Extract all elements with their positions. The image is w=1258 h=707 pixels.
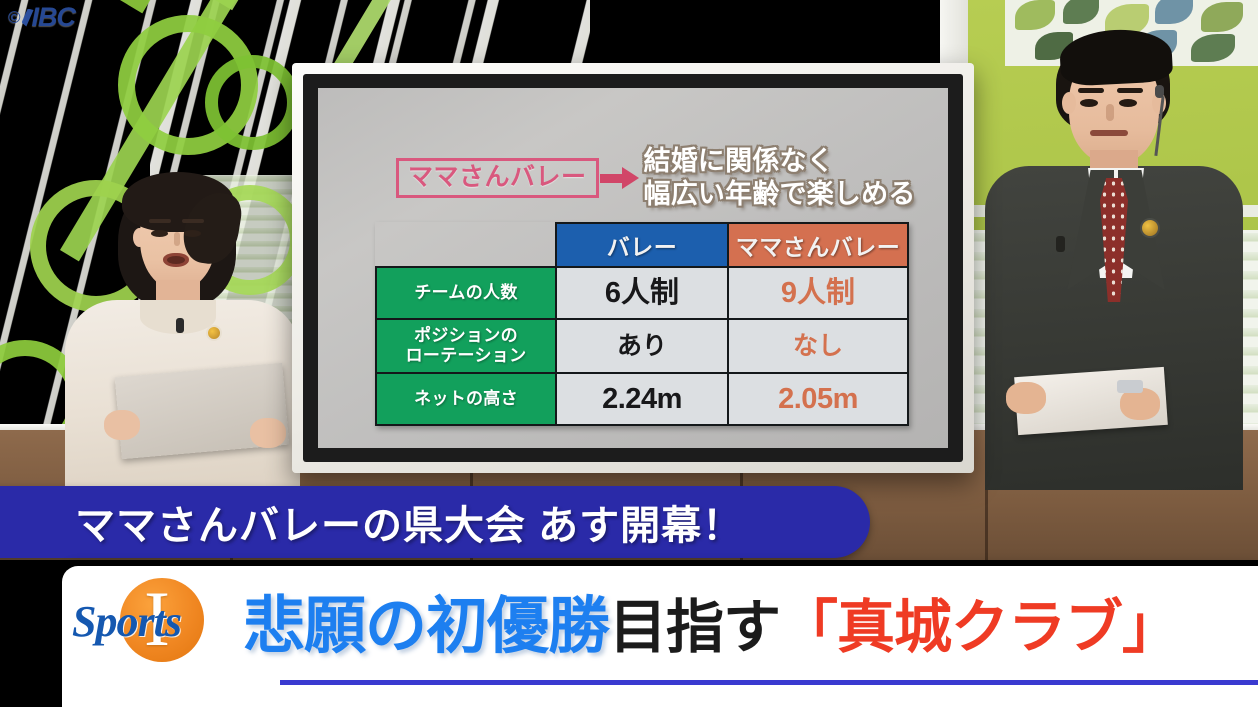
anchor-eyebrow-right [1117, 88, 1143, 93]
sports-headline-row: I Sports 悲願の初優勝 目指す 「真城クラブ」 [62, 570, 1258, 670]
headline-part-black: 目指す [609, 580, 780, 664]
anchor-lapel-pin [1140, 218, 1160, 238]
monitor-screen: ママさんバレー 結婚に関係なく 幅広い年齢で楽しめる バレー ママさんバレー [318, 88, 948, 448]
anchor-eye-left [151, 230, 168, 237]
comparison-table: バレー ママさんバレー チームの人数 6人制 9人制 ポジションの ローテーショ… [375, 222, 909, 426]
column-header-mama-volleyball: ママさんバレー [728, 223, 908, 267]
anchor-eyebrow-left [149, 219, 171, 223]
callout-description-line2: 幅広い年齢で楽しめる [644, 178, 916, 211]
row-label-team-size: チームの人数 [376, 267, 556, 319]
headline-part-red: 「真城クラブ」 [780, 580, 1179, 664]
headline-part-blue: 悲願の初優勝 [243, 575, 609, 665]
wall-mounted-monitor: ママさんバレー 結婚に関係なく 幅広い年齢で楽しめる バレー ママさんバレー [292, 63, 974, 473]
anchor-ear-left [1062, 92, 1076, 114]
lower-third-text: ママさんバレーの県大会 あす開幕！ [75, 493, 743, 551]
anchor-eyebrow-right [182, 219, 204, 223]
anchor-eyebrow-left [1078, 88, 1104, 93]
callout-term-box: ママさんバレー [396, 158, 599, 199]
headline: 悲願の初優勝 目指す 「真城クラブ」 [243, 575, 1179, 665]
cell-volley-net-height: 2.24m [556, 373, 728, 425]
anchor-eye-right [1119, 99, 1137, 107]
table-row: ネットの高さ 2.24m 2.05m [376, 373, 908, 425]
anchor-mouth-inner [167, 256, 185, 264]
callout-description: 結婚に関係なく 幅広い年齢で楽しめる [644, 145, 916, 211]
anchor-wristwatch [1117, 380, 1143, 393]
anchor-earpiece [1155, 85, 1164, 98]
table-row: ポジションの ローテーション あり なし [376, 319, 908, 373]
lower-third-banner: ママさんバレーの県大会 あす開幕！ [0, 486, 870, 558]
anchor-nose [174, 232, 180, 246]
anchor-nose [1106, 104, 1114, 121]
broadcast-screenshot: ママさんバレー 結婚に関係なく 幅広い年齢で楽しめる バレー ママさんバレー [0, 0, 1258, 707]
anchor-lapel-pin [206, 325, 222, 341]
row-label-rotation-line2: ローテーション [377, 346, 555, 366]
anchor-mouth [1090, 130, 1128, 136]
monitor-bezel: ママさんバレー 結婚に関係なく 幅広い年齢で楽しめる バレー ママさんバレー [303, 74, 963, 462]
headline-underline [280, 680, 1258, 685]
right-arrow-icon [600, 167, 640, 189]
anchor-eye-right [184, 230, 201, 237]
row-label-rotation-line1: ポジションの [377, 326, 555, 346]
cell-mama-net-height: 2.05m [728, 373, 908, 425]
anchor-hand-left [1006, 382, 1046, 414]
callout-description-line1: 結婚に関係なく [644, 145, 916, 178]
cell-mama-team-size: 9人制 [728, 267, 908, 319]
column-header-volleyball: バレー [556, 223, 728, 267]
table-row: チームの人数 6人制 9人制 [376, 267, 908, 319]
row-label-net-height: ネットの高さ [376, 373, 556, 425]
cell-volley-team-size: 6人制 [556, 267, 728, 319]
anchor-hand-left [104, 410, 140, 440]
cell-volley-rotation: あり [556, 319, 728, 373]
cell-mama-rotation: なし [728, 319, 908, 373]
station-watermark: © IBC [8, 2, 75, 33]
callout-group: ママさんバレー 結婚に関係なく 幅広い年齢で楽しめる [396, 145, 916, 211]
table-corner-blank [376, 223, 556, 267]
ibc-brand-text: IBC [32, 2, 76, 33]
anchor-lapel-mic [1056, 236, 1065, 252]
table-header-row: バレー ママさんバレー [376, 223, 908, 267]
copyright-symbol: © [8, 8, 20, 28]
logo-wordmark: Sports [72, 596, 181, 647]
row-label-rotation: ポジションの ローテーション [376, 319, 556, 373]
anchor-hand-right [250, 418, 286, 448]
sports-headline-panel: I Sports 悲願の初優勝 目指す 「真城クラブ」 [62, 566, 1258, 707]
anchor-lapel-mic [176, 318, 184, 333]
anchor-eye-left [1080, 99, 1098, 107]
green-ring-graphic [205, 55, 300, 150]
sports-logo: I Sports [66, 572, 241, 668]
